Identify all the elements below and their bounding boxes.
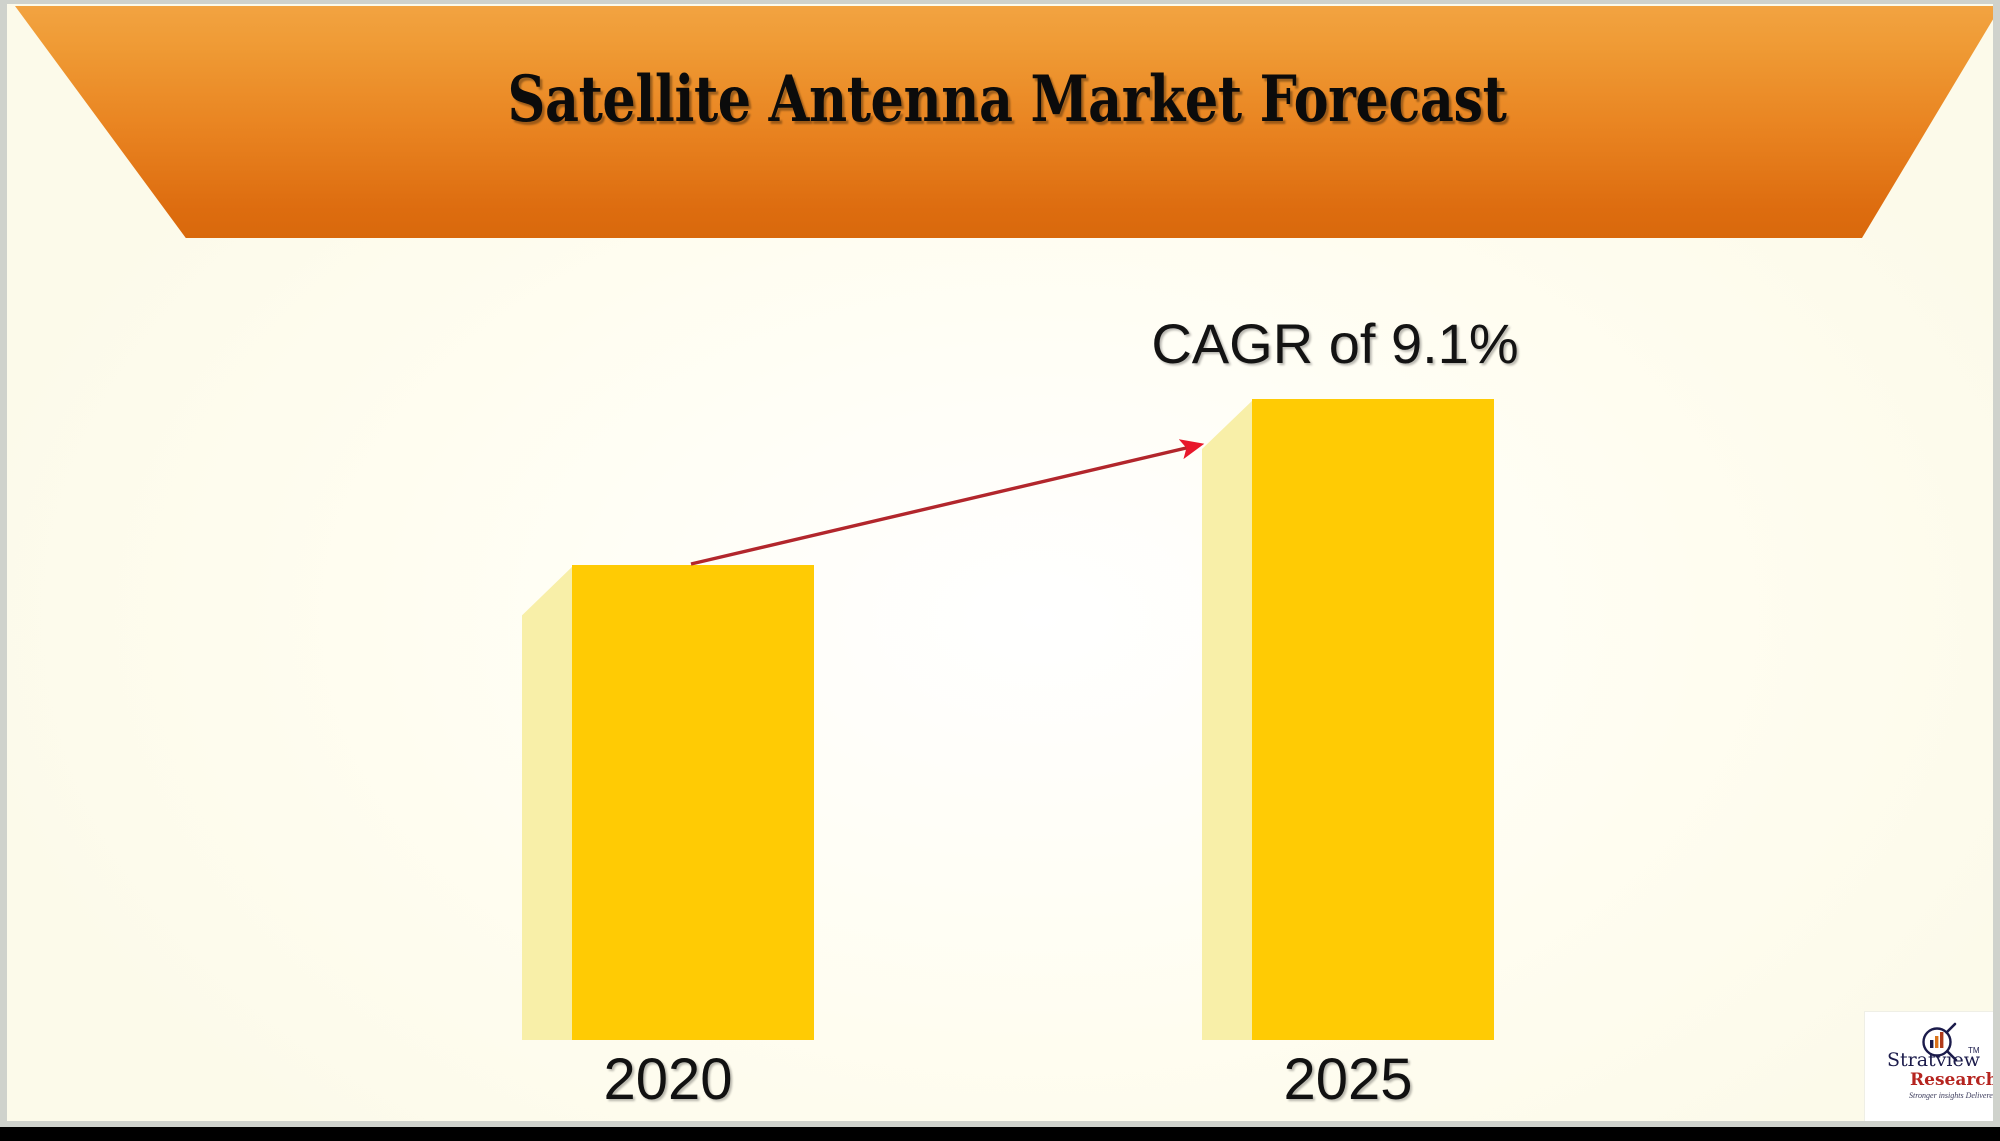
- logo-artwork: Stratview TM Research Stronger insights …: [1865, 1012, 2000, 1124]
- bar-chart: 2020 2025 CAGR of 9.1%: [7, 4, 2000, 1127]
- presentation-slide: Satellite Antenna Market Forecast 2020 2…: [0, 0, 2000, 1141]
- growth-arrow-icon: [7, 4, 2000, 1127]
- bar-label-2020: 2020: [522, 1046, 814, 1113]
- bar-2020-front-face: [572, 565, 814, 1040]
- slide-bottom-bar: [0, 1127, 2000, 1141]
- bar-2025-side-face: [1202, 399, 1254, 1040]
- logo-trademark: TM: [1968, 1046, 1980, 1055]
- cagr-annotation: CAGR of 9.1%: [1105, 311, 1565, 376]
- slide-page: Satellite Antenna Market Forecast 2020 2…: [0, 0, 2000, 1127]
- slide-canvas: Satellite Antenna Market Forecast 2020 2…: [7, 4, 1993, 1121]
- logo-tagline: Stronger insights Delivered: [1909, 1091, 1998, 1100]
- bar-label-2025: 2025: [1202, 1046, 1494, 1113]
- logo-word-stratview: Stratview: [1887, 1049, 1981, 1071]
- logo-word-research: Research: [1910, 1070, 1998, 1090]
- bar-2025-front-face: [1252, 399, 1494, 1040]
- stratview-research-logo[interactable]: Stratview TM Research Stronger insights …: [1865, 1012, 2000, 1124]
- bar-2020-side-face: [522, 565, 574, 1040]
